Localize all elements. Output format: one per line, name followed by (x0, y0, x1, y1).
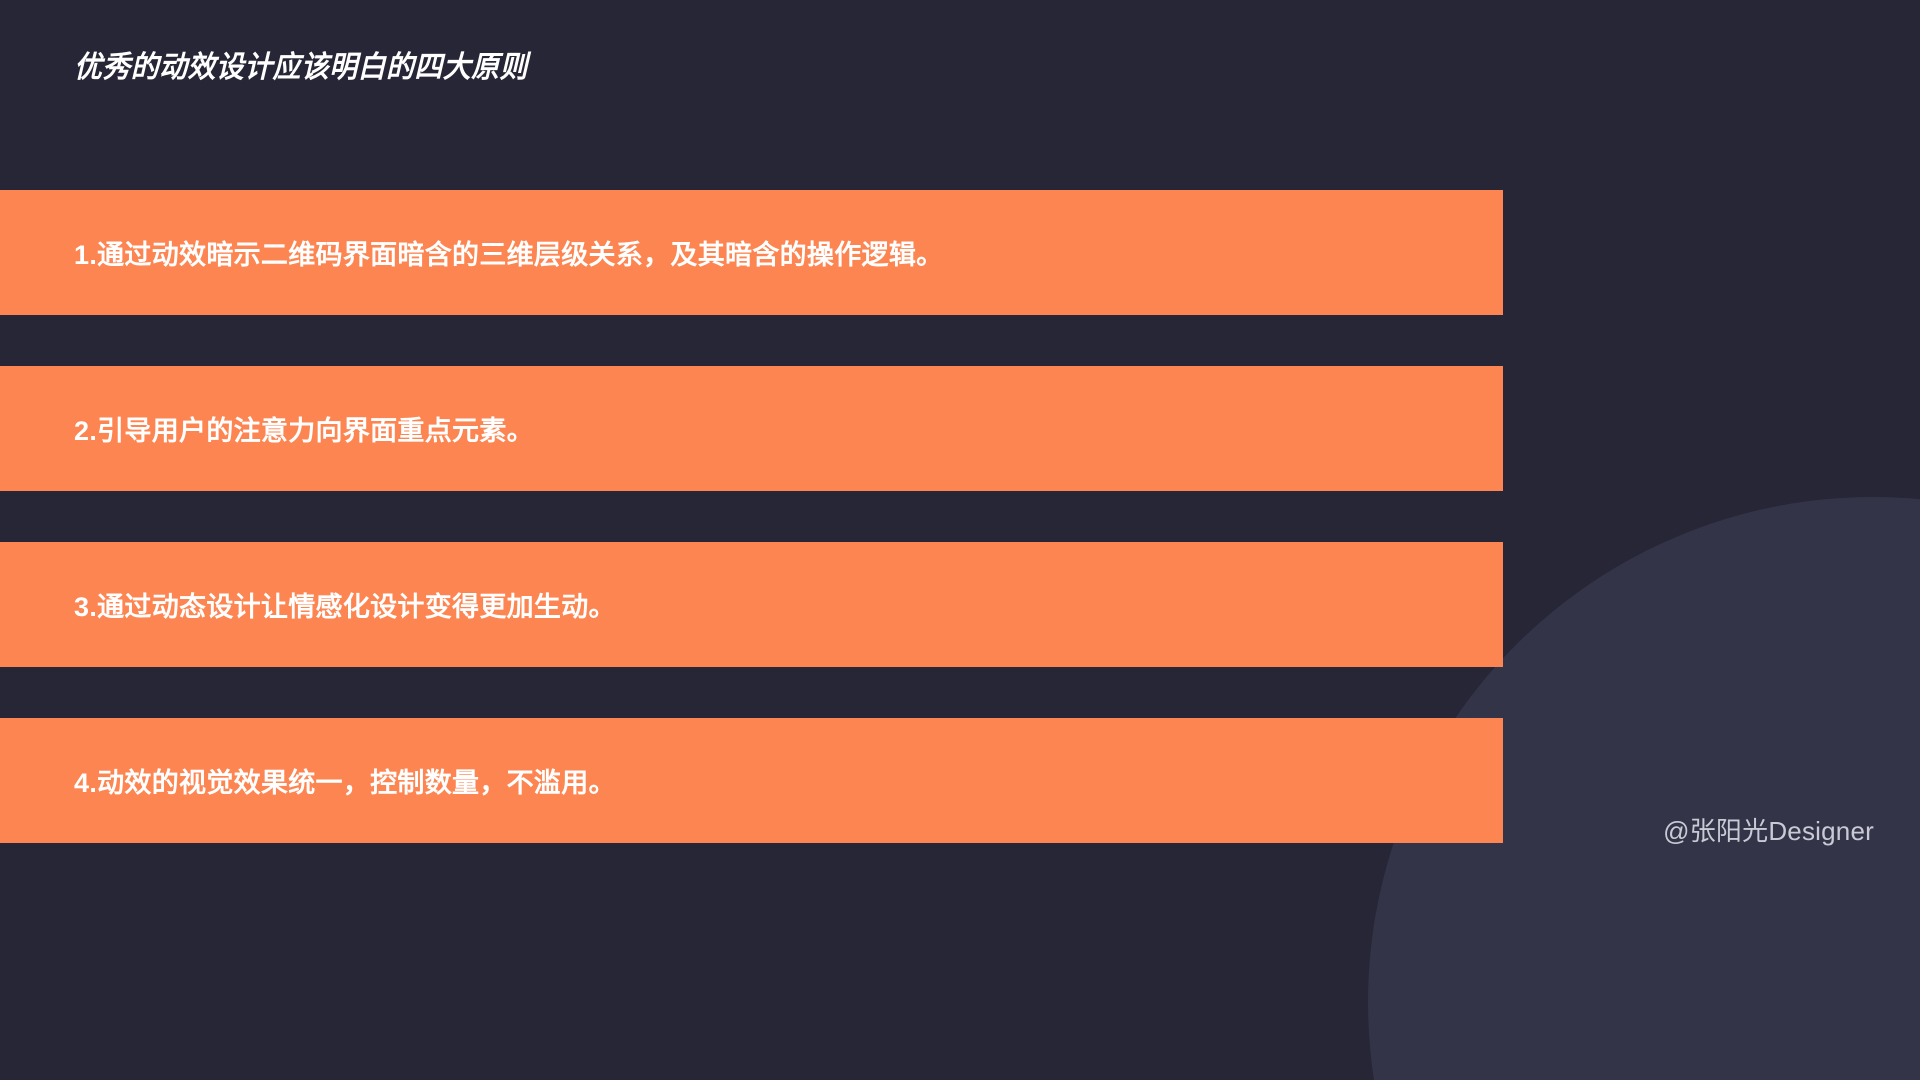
principle-text-4: 4.动效的视觉效果统一，控制数量，不滥用。 (0, 761, 616, 800)
slide-canvas: 优秀的动效设计应该明白的四大原则 1.通过动效暗示二维码界面暗含的三维层级关系，… (0, 0, 1920, 1080)
principle-bar-1: 1.通过动效暗示二维码界面暗含的三维层级关系，及其暗含的操作逻辑。 (0, 190, 1503, 315)
principle-text-3: 3.通过动态设计让情感化设计变得更加生动。 (0, 585, 616, 624)
principle-text-1: 1.通过动效暗示二维码界面暗含的三维层级关系，及其暗含的操作逻辑。 (0, 233, 943, 272)
principle-bar-2: 2.引导用户的注意力向界面重点元素。 (0, 366, 1503, 491)
watermark: @张阳光Designer (1663, 811, 1874, 848)
principle-bar-4: 4.动效的视觉效果统一，控制数量，不滥用。 (0, 718, 1503, 843)
principle-text-2: 2.引导用户的注意力向界面重点元素。 (0, 409, 534, 448)
principle-bar-3: 3.通过动态设计让情感化设计变得更加生动。 (0, 542, 1503, 667)
principles-list: 1.通过动效暗示二维码界面暗含的三维层级关系，及其暗含的操作逻辑。 2.引导用户… (0, 0, 1920, 1080)
page-title: 优秀的动效设计应该明白的四大原则 (74, 42, 528, 86)
